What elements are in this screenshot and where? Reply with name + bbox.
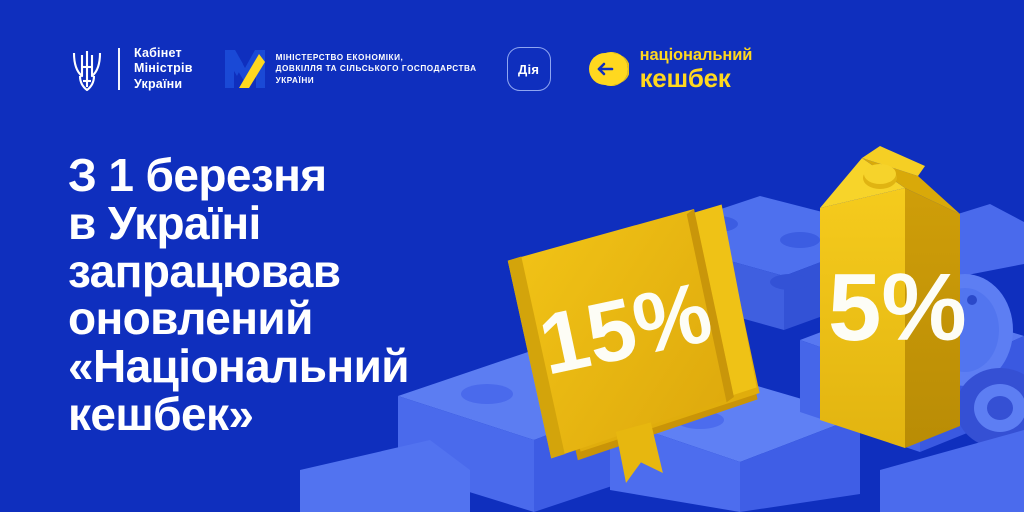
diia-badge[interactable]: Дія xyxy=(507,47,551,91)
headline-line-1: З 1 березня xyxy=(68,152,409,200)
diia-label: Дія xyxy=(518,62,539,77)
headline: З 1 березня в Україні запрацював оновлен… xyxy=(68,152,409,439)
promo-banner: 5% 15% xyxy=(0,0,1024,512)
ministry-m-mark-icon xyxy=(223,48,267,90)
logo-strip: Кабінет Міністрів України МІНІСТЕРСТВО Е… xyxy=(70,38,752,100)
national-cashback-logo: національний кешбек xyxy=(585,47,753,91)
cashback-line-top: національний xyxy=(640,47,753,64)
ministry-of-economy-logo: МІНІСТЕРСТВО ЕКОНОМІКИ, ДОВКІЛЛЯ ТА СІЛЬ… xyxy=(223,48,477,90)
logo-divider xyxy=(118,48,120,90)
coin-arrow-icon xyxy=(585,47,629,91)
headline-line-3: запрацював xyxy=(68,248,409,296)
ministry-of-economy-label: МІНІСТЕРСТВО ЕКОНОМІКИ, ДОВКІЛЛЯ ТА СІЛЬ… xyxy=(276,52,477,86)
headline-line-4: оновлений xyxy=(68,295,409,343)
cabinet-of-ministers-label: Кабінет Міністрів України xyxy=(134,46,193,92)
carton-percent-label: 5% xyxy=(828,254,967,361)
headline-line-6: кешбек» xyxy=(68,391,409,439)
headline-line-5: «Національний xyxy=(68,343,409,391)
cabinet-of-ministers-logo: Кабінет Міністрів України xyxy=(70,45,193,93)
ukraine-trident-icon xyxy=(70,45,104,93)
national-cashback-wordmark: національний кешбек xyxy=(640,47,753,91)
cashback-line-bottom: кешбек xyxy=(640,65,753,91)
headline-line-2: в Україні xyxy=(68,200,409,248)
